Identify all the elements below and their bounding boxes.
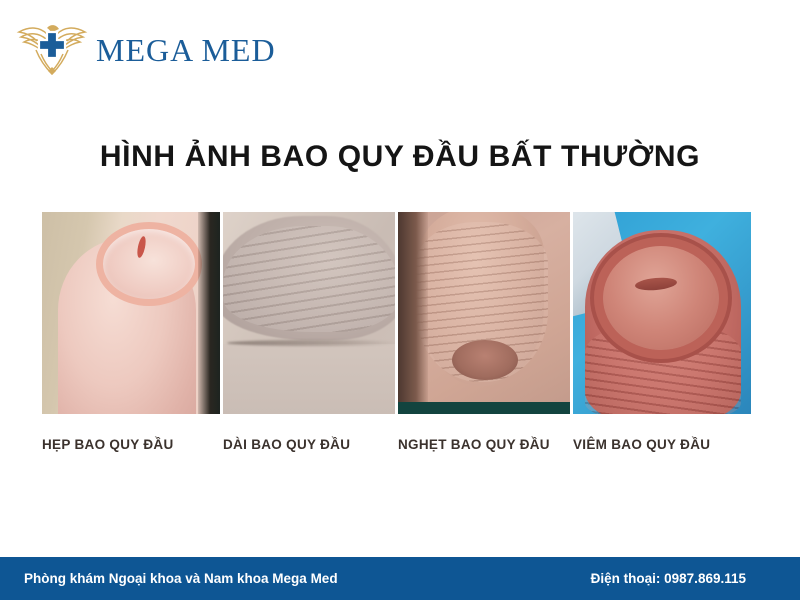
brand-name: MEGA MED — [96, 32, 276, 69]
winged-medical-cross-icon — [14, 20, 90, 80]
panel-shape-teal-strip — [398, 402, 570, 414]
panel-shape-edge-shadow — [198, 212, 220, 414]
panel-shape-veins — [62, 302, 194, 414]
panel-shape-ring — [96, 222, 202, 306]
footer-bar: Phòng khám Ngoại khoa và Nam khoa Mega M… — [0, 557, 800, 600]
caption-balanitis: VIÊM BAO QUY ĐẦU — [573, 435, 751, 457]
panel-shape-lower-skin — [223, 344, 395, 414]
gallery-image-paraphimosis — [398, 212, 570, 414]
caption-long-foreskin: DÀI BAO QUY ĐẦU — [223, 435, 395, 457]
panel-shape-folds — [223, 226, 395, 332]
panel-shape-crease — [227, 340, 395, 346]
panel-shape-edge-shadow — [398, 212, 428, 414]
caption-phimosis: HẸP BAO QUY ĐẦU — [42, 435, 220, 457]
gallery-image-long-foreskin — [223, 212, 395, 414]
image-gallery — [42, 212, 758, 414]
footer-clinic-name: Phòng khám Ngoại khoa và Nam khoa Mega M… — [24, 571, 338, 586]
brand-header: MEGA MED — [14, 18, 276, 82]
gallery-image-balanitis — [573, 212, 751, 414]
panel-shape-dome — [603, 246, 719, 350]
gallery-image-phimosis — [42, 212, 220, 414]
footer-phone: Điện thoại: 0987.869.115 — [591, 571, 746, 586]
page-title: HÌNH ẢNH BAO QUY ĐẦU BẤT THƯỜNG — [0, 140, 800, 174]
gallery-captions: HẸP BAO QUY ĐẦU DÀI BAO QUY ĐẦU NGHẸT BA… — [42, 435, 758, 457]
caption-paraphimosis: NGHẸT BAO QUY ĐẦU — [398, 435, 570, 457]
panel-shape-tip — [452, 340, 518, 380]
